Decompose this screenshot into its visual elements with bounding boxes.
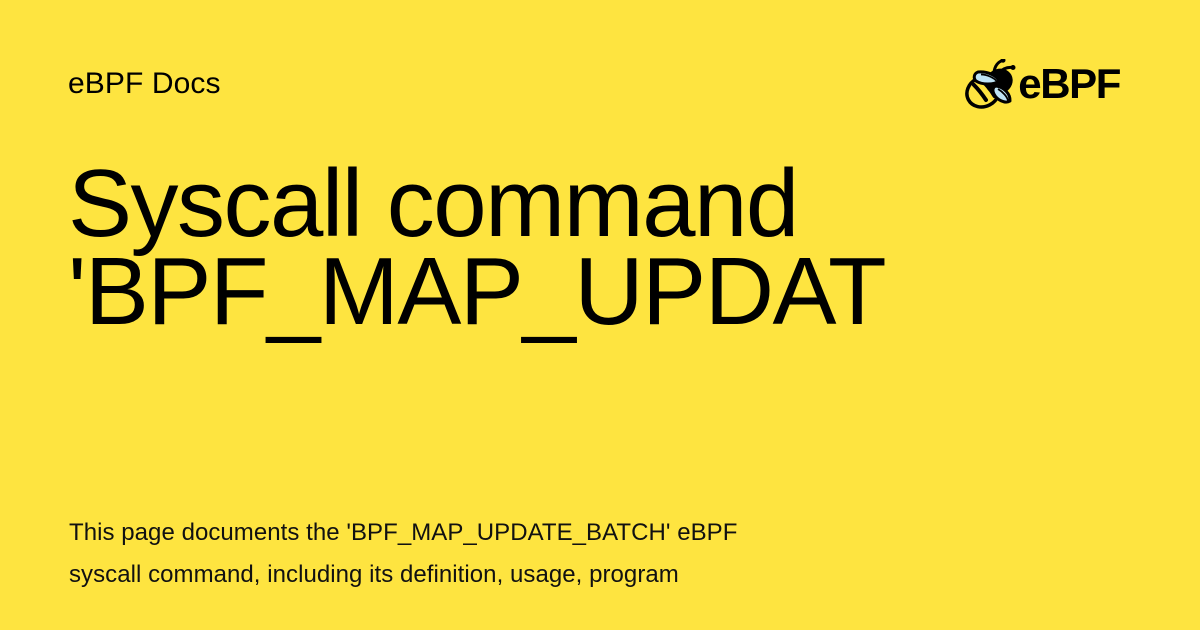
page-title-line-2: 'BPF_MAP_UPDATE [68, 248, 890, 336]
page-title-line-1: Syscall command [68, 160, 890, 248]
ebpf-logo: eBPF [963, 58, 1120, 110]
social-share-card: eBPF Docs eBPF [0, 0, 1200, 630]
page-title: Syscall command 'BPF_MAP_UPDATE [68, 160, 890, 350]
page-description-line-1: This page documents the 'BPF_MAP_UPDATE_… [69, 512, 899, 554]
card-header: eBPF Docs eBPF [68, 56, 1120, 112]
ebpf-wordmark: eBPF [1018, 63, 1120, 105]
ebpf-bee-logo-icon [963, 59, 1017, 109]
site-name: eBPF Docs [68, 69, 221, 99]
page-description: This page documents the 'BPF_MAP_UPDATE_… [69, 512, 899, 596]
page-description-line-2: syscall command, including its definitio… [69, 554, 899, 596]
